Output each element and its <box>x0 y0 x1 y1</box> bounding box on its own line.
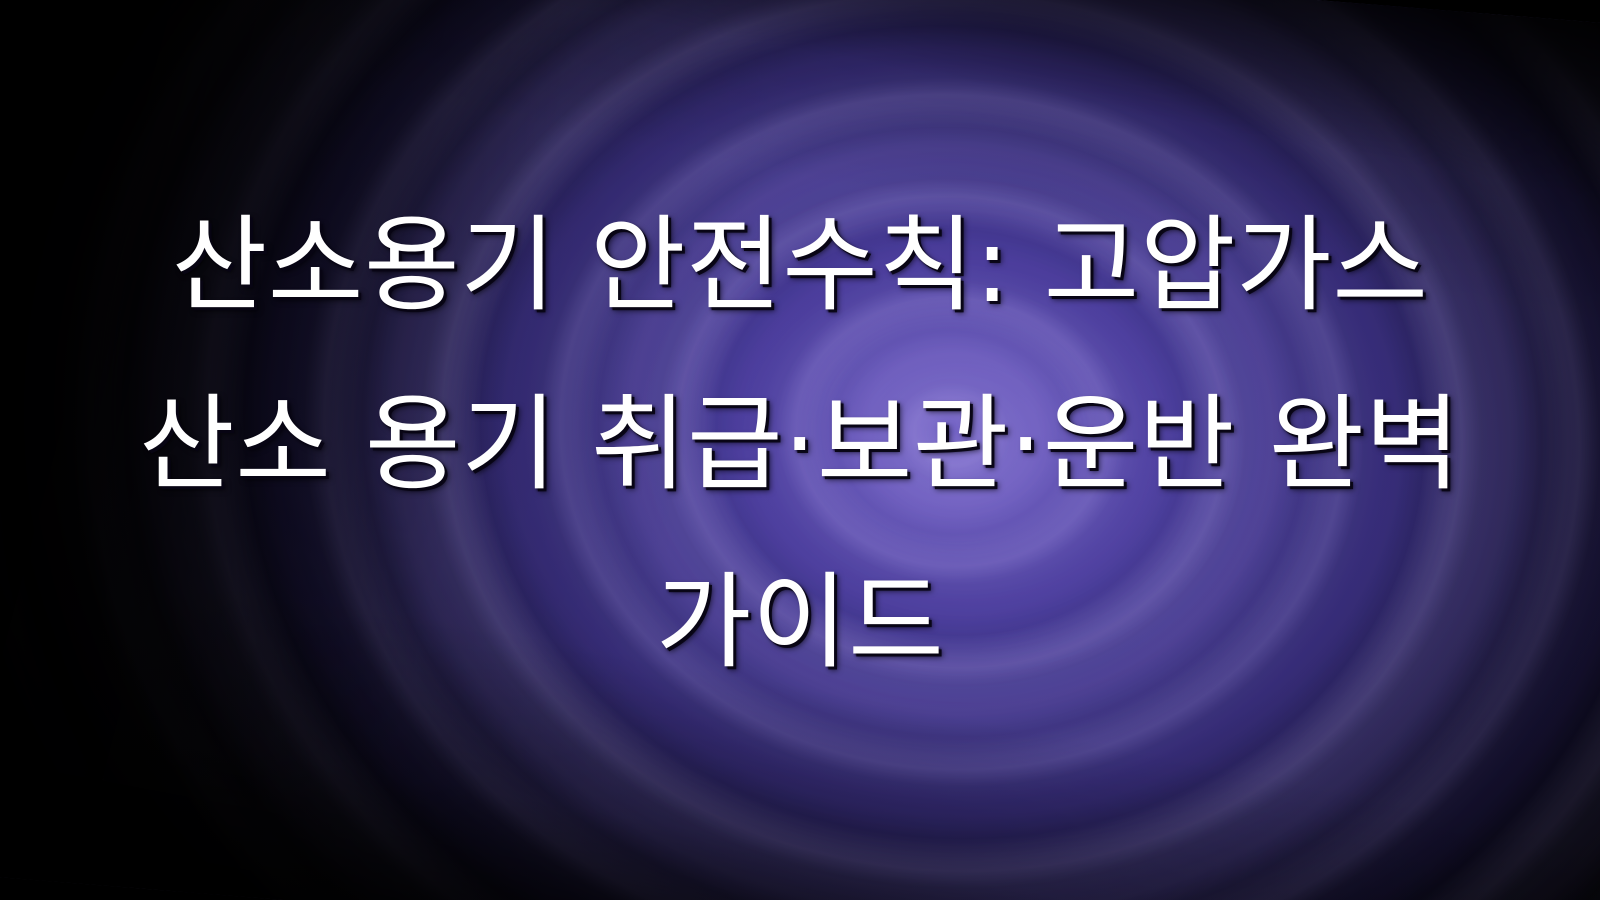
slide-title: 산소용기 안전수칙: 고압가스 산소 용기 취급·보관·운반 완벽 가이드 <box>90 176 1510 713</box>
title-layer: 산소용기 안전수칙: 고압가스 산소 용기 취급·보관·운반 완벽 가이드 <box>0 0 1600 900</box>
slide-canvas: 산소용기 안전수칙: 고압가스 산소 용기 취급·보관·운반 완벽 가이드 <box>0 0 1600 900</box>
